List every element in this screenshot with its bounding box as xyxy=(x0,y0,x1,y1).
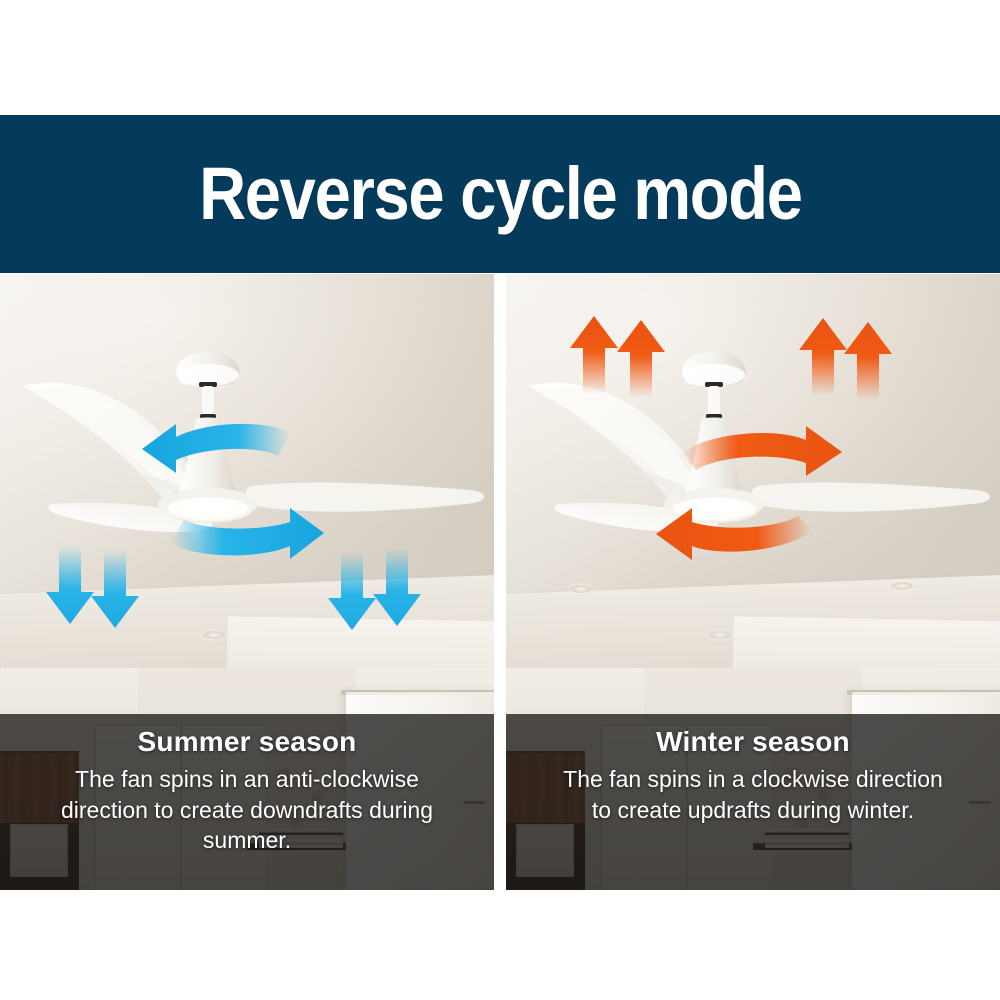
caption-title-winter: Winter season xyxy=(656,726,850,758)
curved-rotation-arrow-icon xyxy=(682,426,842,476)
arrow-down-icon xyxy=(328,552,376,630)
caption-body-winter: The fan spins in a clockwise direction t… xyxy=(553,764,953,825)
arrow-down-icon xyxy=(46,546,94,624)
arrow-up-icon xyxy=(799,318,847,396)
panel-summer: Summer season The fan spins in an anti-c… xyxy=(0,274,494,890)
panel-winter: Winter season The fan spins in a clockwi… xyxy=(506,274,1000,890)
caption-winter: Winter season The fan spins in a clockwi… xyxy=(506,714,1000,890)
arrow-up-icon xyxy=(617,320,665,398)
bottom-white-margin xyxy=(0,890,1000,1000)
arrow-up-icon xyxy=(570,316,618,394)
arrow-down-icon xyxy=(373,548,421,626)
curved-rotation-arrow-icon xyxy=(142,424,290,473)
product-feature-graphic: Reverse cycle mode xyxy=(0,0,1000,1000)
caption-summer: Summer season The fan spins in an anti-c… xyxy=(0,714,494,890)
top-white-margin xyxy=(0,0,1000,115)
arrow-up-icon xyxy=(844,322,892,400)
title-banner: Reverse cycle mode xyxy=(0,115,1000,273)
page-title: Reverse cycle mode xyxy=(199,157,802,231)
caption-title-summer: Summer season xyxy=(138,726,357,758)
panel-divider xyxy=(494,274,506,890)
comparison-panels: Summer season The fan spins in an anti-c… xyxy=(0,274,1000,890)
curved-rotation-arrow-icon xyxy=(170,508,324,559)
arrow-down-icon xyxy=(91,550,139,628)
caption-body-summer: The fan spins in an anti-clockwise direc… xyxy=(47,764,447,856)
curved-rotation-arrow-icon xyxy=(656,508,812,560)
